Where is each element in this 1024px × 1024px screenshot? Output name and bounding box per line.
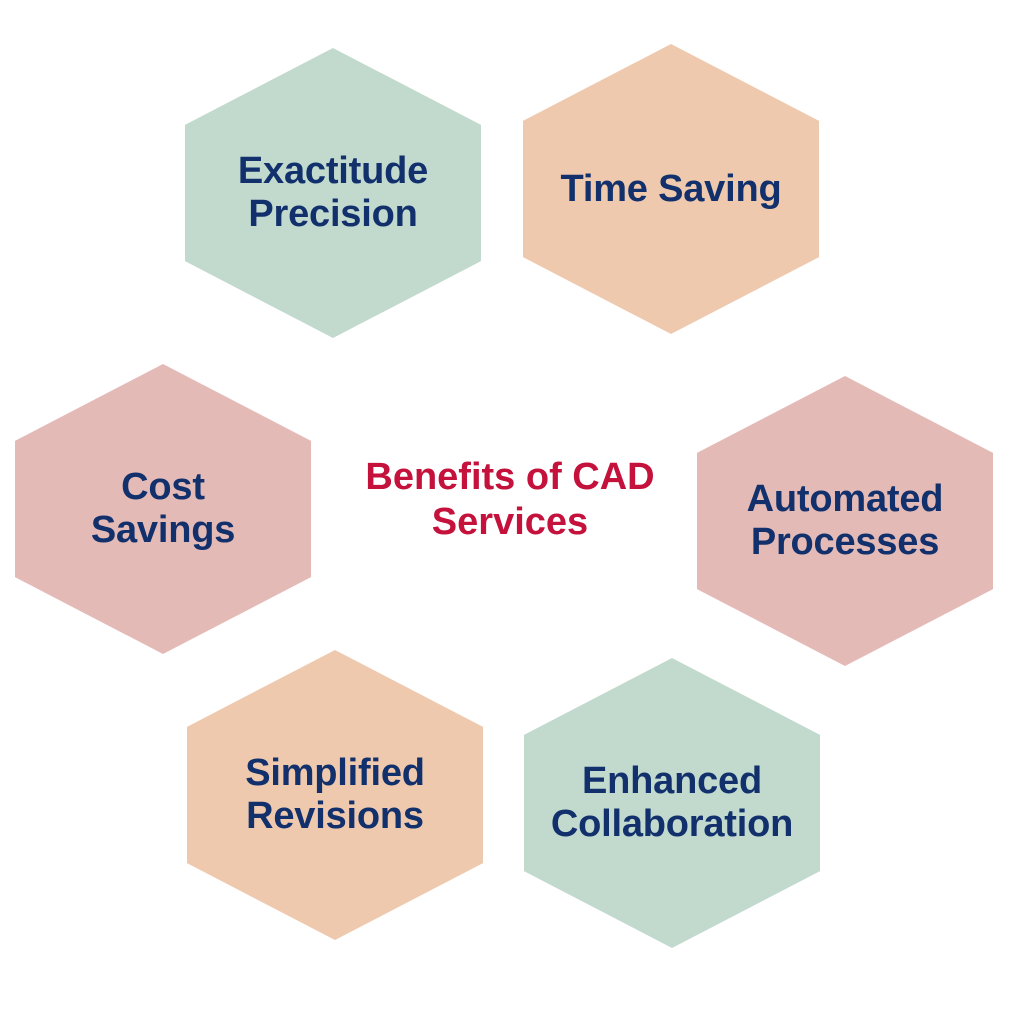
- hexagon-enhanced-collaboration[interactable]: Enhanced Collaboration: [524, 658, 820, 948]
- hexagon-label-automated-processes: Automated Processes: [741, 478, 950, 564]
- diagram-center-title: Benefits of CAD Services: [345, 425, 675, 575]
- hexagon-cost-savings[interactable]: Cost Savings: [15, 364, 311, 654]
- page-title: Benefits of CAD Services: [365, 455, 654, 545]
- hexagon-exactitude-precision[interactable]: Exactitude Precision: [185, 48, 481, 338]
- hexagon-label-cost-savings: Cost Savings: [85, 466, 241, 552]
- hexagon-label-enhanced-collaboration: Enhanced Collaboration: [545, 760, 799, 846]
- hexagon-label-time-saving: Time Saving: [555, 168, 788, 211]
- hexagon-simplified-revisions[interactable]: Simplified Revisions: [187, 650, 483, 940]
- hexagon-label-simplified-revisions: Simplified Revisions: [239, 752, 431, 838]
- diagram-canvas: Exactitude Precision Time Saving Cost Sa…: [0, 0, 1024, 1024]
- hexagon-time-saving[interactable]: Time Saving: [523, 44, 819, 334]
- hexagon-label-exactitude-precision: Exactitude Precision: [232, 150, 434, 236]
- hexagon-automated-processes[interactable]: Automated Processes: [697, 376, 993, 666]
